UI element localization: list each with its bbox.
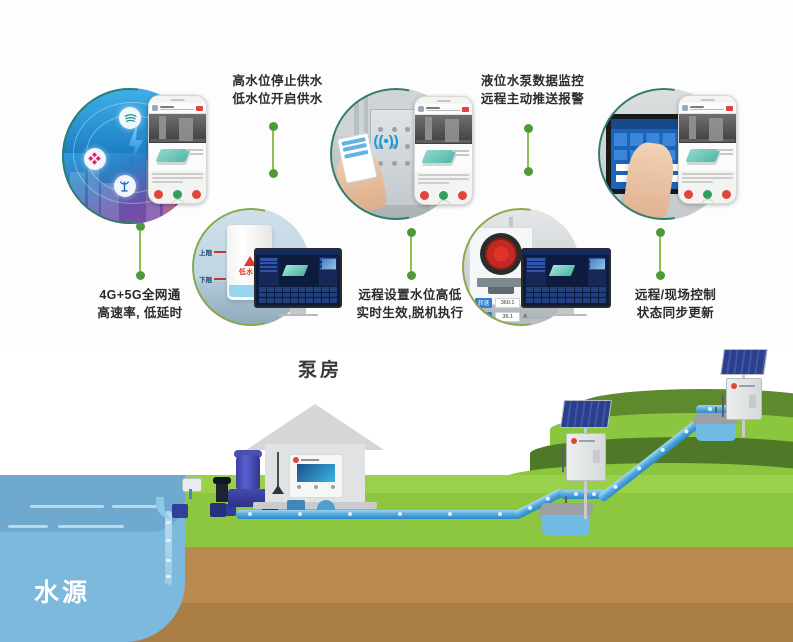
pump-inlet-valve — [210, 503, 226, 517]
caption-monitor-line1: 液位水泵数据监控 — [465, 72, 600, 90]
caption-remote-set: 远程设置水位高低 实时生效,脱机执行 — [340, 286, 480, 322]
connector-remote-set — [406, 228, 416, 280]
pump-house-base — [253, 502, 377, 509]
phone-text-lines — [149, 171, 206, 189]
phone-appbar — [149, 103, 206, 114]
connector-dot-bottom — [269, 169, 278, 178]
connector-bar — [527, 133, 530, 167]
pump-readout-row: 电流 36.1 A — [475, 312, 527, 322]
china-telecom-logo-icon — [114, 175, 136, 197]
connector-dot-top — [269, 122, 278, 131]
upper-limit-label: 上限 — [199, 247, 212, 257]
monitor-mock-tank[interactable] — [254, 248, 342, 320]
field-cabinet-lower[interactable] — [566, 433, 606, 481]
flow-meter — [178, 478, 204, 506]
cabinet-antenna-icon — [722, 395, 724, 417]
connector-level — [268, 122, 278, 178]
phone-title-lines — [426, 107, 460, 111]
monitor-mock-pump[interactable] — [521, 248, 611, 320]
cabinet-brand-mark-icon — [571, 438, 577, 444]
phone-device-model — [149, 143, 206, 171]
diagram-canvas: 4G+5G全网通 高速率, 低延时 高水位停止供水 低水位开启供水 远程设置水位… — [0, 0, 793, 642]
phone-device-model — [679, 143, 736, 171]
flange-valve-left — [172, 504, 188, 518]
readout-value: 36.1 — [495, 312, 520, 322]
caption-remote-set-line2: 实时生效,脱机执行 — [340, 304, 480, 322]
cabinet-switch[interactable] — [593, 450, 600, 463]
caption-remote-set-line1: 远程设置水位高低 — [340, 286, 480, 304]
connector-dot-bottom — [656, 271, 665, 280]
water-source-label: 水源 — [34, 573, 90, 609]
connector-bar — [659, 237, 662, 271]
phone-text-lines — [679, 171, 736, 189]
phone-home-button[interactable] — [415, 201, 472, 205]
solar-panel-upper — [720, 349, 768, 375]
connector-dot-top — [407, 228, 416, 237]
wifi-icon: ((•)) — [374, 133, 399, 150]
connector-bar — [139, 231, 142, 271]
record-badge-icon — [196, 106, 203, 111]
connector-bar — [272, 131, 275, 169]
readout-key: 电流 — [475, 312, 492, 322]
connector-dot-bottom — [407, 271, 416, 280]
pump-house-label: 泵房 — [298, 355, 342, 382]
caption-control-line2: 状态同步更新 — [608, 304, 743, 322]
phone-avatar — [152, 105, 158, 111]
phone-text-lines — [415, 172, 472, 190]
phone-earpiece — [415, 97, 472, 104]
controller-buttons[interactable] — [290, 485, 342, 489]
connector-network — [135, 222, 145, 280]
brand-mark-icon — [293, 457, 299, 463]
connector-dot-bottom — [524, 167, 533, 176]
pump-readout-row: 转速 360.1 R — [475, 298, 527, 308]
phone-appbar — [415, 104, 472, 115]
caption-control-line1: 远程/现场控制 — [608, 286, 743, 304]
monitor-base — [278, 314, 318, 317]
pump-impeller-icon — [480, 233, 522, 275]
monitor-base — [545, 314, 586, 317]
monitor-screen — [521, 248, 611, 308]
phone-device-model — [415, 144, 472, 172]
connector-monitor — [523, 124, 533, 176]
connector-control — [655, 228, 665, 280]
main-pipeline — [236, 510, 522, 519]
caption-level: 高水位停止供水 低水位开启供水 — [215, 72, 340, 108]
phone-live-video — [679, 114, 736, 143]
tank-lower-limit-marker: 下限 — [199, 274, 226, 284]
phone-mock-network[interactable] — [148, 95, 207, 204]
field-cabinet-upper[interactable] — [726, 378, 762, 420]
phone-mock-cabinet[interactable] — [414, 96, 473, 205]
antenna-icon — [277, 452, 279, 492]
cabinet-brand-mark-icon — [731, 383, 737, 389]
caption-level-line2: 低水位开启供水 — [215, 90, 340, 108]
monitor-neck — [290, 308, 306, 313]
landscape-illustration: 泵房 — [0, 345, 793, 642]
phone-home-button[interactable] — [679, 200, 736, 204]
phone-appbar — [679, 103, 736, 114]
caption-control: 远程/现场控制 状态同步更新 — [608, 286, 743, 322]
caption-monitor: 液位水泵数据监控 远程主动推送报警 — [465, 72, 600, 108]
phone-home-button[interactable] — [149, 200, 206, 204]
controller-screen — [297, 464, 335, 482]
china-mobile-logo-icon — [119, 107, 141, 129]
connector-dot-bottom — [136, 271, 145, 280]
monitor-neck — [558, 308, 574, 313]
record-badge-icon — [726, 106, 733, 111]
cabinet-antenna-icon — [562, 450, 564, 472]
china-unicom-logo-icon — [84, 148, 106, 170]
readout-key: 转速 — [475, 298, 492, 308]
pump-house — [259, 404, 371, 508]
top-diagram-zone: 4G+5G全网通 高速率, 低延时 高水位停止供水 低水位开启供水 远程设置水位… — [0, 0, 793, 345]
controller-brand — [293, 457, 342, 463]
monitor-screen — [254, 248, 342, 308]
phone-avatar — [418, 106, 424, 112]
pump-house-controller[interactable] — [289, 454, 343, 498]
readout-value: 360.1 — [495, 298, 520, 308]
phone-title-lines — [160, 106, 194, 110]
caption-level-line1: 高水位停止供水 — [215, 72, 340, 90]
phone-mock-hmi[interactable] — [678, 95, 737, 204]
lower-limit-label: 下限 — [199, 274, 212, 284]
phone-avatar — [682, 105, 688, 111]
phone-title-lines — [690, 106, 724, 110]
gate-valve-dark — [216, 480, 228, 502]
connector-bar — [410, 237, 413, 271]
phone-live-video — [415, 115, 472, 144]
caption-monitor-line2: 远程主动推送报警 — [465, 90, 600, 108]
solar-panel-lower — [560, 400, 612, 428]
phone-earpiece — [149, 96, 206, 103]
connector-dot-top — [524, 124, 533, 133]
phone-live-video — [149, 114, 206, 143]
record-badge-icon — [462, 107, 469, 112]
well-riser — [165, 511, 172, 585]
connector-dot-top — [656, 228, 665, 237]
phone-earpiece — [679, 96, 736, 103]
cabinet-switch[interactable] — [749, 395, 756, 408]
tank-upper-limit-marker: 上限 — [199, 247, 226, 257]
